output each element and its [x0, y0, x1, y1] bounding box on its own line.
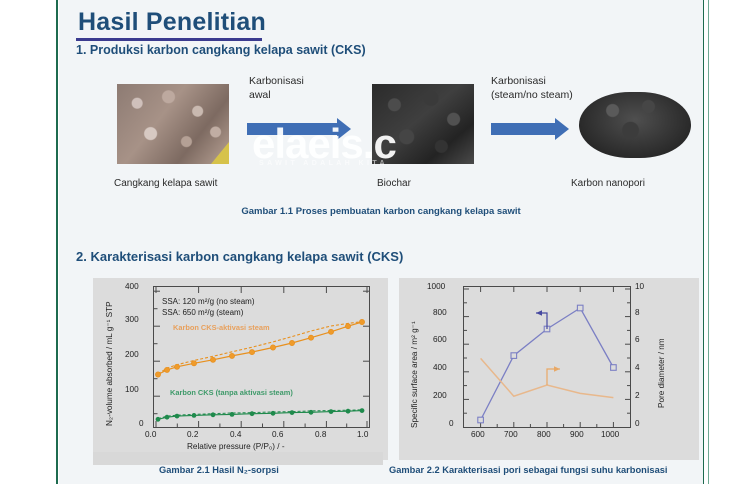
chart2-y-tick-1000: 1000: [427, 282, 445, 291]
right-border-line-secondary: [708, 0, 709, 484]
chart2-y-tick-0: 0: [449, 419, 454, 428]
chart1-x-tick-1: 0.2: [187, 430, 198, 439]
chart2-right-axis-arrow: [547, 369, 560, 385]
chart2-y2-tick-2: 2: [635, 391, 640, 400]
presentation-slide: Hasil Penelitian 1. Produksi karbon cang…: [59, 0, 703, 484]
chart2-y-tick-200: 200: [433, 391, 447, 400]
chart2-x-tick-900: 900: [570, 430, 584, 439]
arrow-label-line1: Karbonisasi: [491, 74, 573, 88]
chart2-y-tick-600: 600: [433, 335, 447, 344]
slide-frame: Hasil Penelitian 1. Produksi karbon cang…: [0, 0, 750, 484]
chart1-series-label-green: Karbon CKS (tanpa aktivasi steam): [170, 388, 293, 397]
arrow-shaft: [491, 123, 555, 135]
process-arrow-label-2: Karbonisasi (steam/no steam): [491, 74, 573, 102]
chart1-series-label-orange: Karbon CKS-aktivasi steam: [173, 323, 270, 332]
caption-strip: [93, 452, 383, 465]
arrow-label-line1: Karbonisasi: [249, 74, 304, 88]
chart1-annotations: SSA: 120 m²/g (no steam) SSA: 650 m²/g (…: [162, 296, 254, 318]
chart1-x-tick-3: 0.6: [272, 430, 283, 439]
section-heading-1: 1. Produksi karbon cangkang kelapa sawit…: [76, 43, 366, 57]
chart1-x-axis-label: Relative pressure (P/P₀) / -: [187, 442, 285, 451]
arrow-label-line2: awal: [249, 88, 304, 102]
chart2-y2-tick-10: 10: [635, 282, 644, 291]
photo-caption-2: Biochar: [377, 178, 411, 189]
chart2-y-axis-label: Specific surface area / m² g⁻¹: [409, 321, 419, 428]
chart2-y2-tick-6: 6: [635, 335, 640, 344]
chart1-annotation-no-steam: SSA: 120 m²/g (no steam): [162, 296, 254, 307]
chart1-y-tick-200: 200: [125, 350, 139, 359]
chart1-annotation-steam: SSA: 650 m²/g (steam): [162, 307, 254, 318]
photo-caption-3: Karbon nanopori: [571, 178, 645, 189]
arrow-label-line2: (steam/no steam): [491, 88, 573, 102]
chart2-x-tick-1000: 1000: [601, 430, 619, 439]
chart1-x-tick-4: 0.8: [315, 430, 326, 439]
section-heading-2: 2. Karakterisasi karbon cangkang kelapa …: [76, 249, 403, 264]
chart-n2-sorption: N₂-volume absorbed / mL g⁻¹ STP 400 300 …: [93, 278, 388, 460]
nanoporous-carbon-photo: [579, 92, 691, 158]
chart2-x-tick-800: 800: [537, 430, 551, 439]
chart2-y2-tick-4: 4: [635, 363, 640, 372]
oil-palm-shell-photo: [117, 84, 229, 164]
chart1-y-tick-100: 100: [125, 385, 139, 394]
chart2-svg: [464, 287, 630, 427]
chart2-right-arrow-head: [554, 366, 560, 372]
figure-caption-2-1: Gambar 2.1 Hasil N₂-sorpsi: [159, 465, 279, 475]
chart2-y-tick-800: 800: [433, 308, 447, 317]
chart2-y-tick-400: 400: [433, 363, 447, 372]
chart1-y-axis-label: N₂-volume absorbed / mL g⁻¹ STP: [104, 301, 114, 426]
chart-pore-characterisation: Specific surface area / m² g⁻¹ Pore diam…: [399, 278, 699, 460]
chart2-y2-tick-0: 0: [635, 419, 640, 428]
process-arrow-label-1: Karbonisasi awal: [249, 74, 304, 102]
title-underline: [76, 38, 262, 41]
chart1-y-tick-300: 300: [125, 315, 139, 324]
process-arrow-2: [491, 118, 569, 140]
left-border-line: [56, 0, 58, 484]
chart2-x-tick-700: 700: [504, 430, 518, 439]
chart2-x-tick-600: 600: [471, 430, 485, 439]
chart2-y2-tick-8: 8: [635, 308, 640, 317]
chart1-x-tick-2: 0.4: [230, 430, 241, 439]
photo-caption-1: Cangkang kelapa sawit: [114, 178, 217, 189]
watermark-tagline: SAWIT ADALAH KITA: [259, 160, 388, 167]
chart2-plot-area: [463, 286, 631, 428]
page-title: Hasil Penelitian: [78, 8, 266, 37]
figure-caption-1-1: Gambar 1.1 Proses pembuatan karbon cangk…: [59, 206, 703, 217]
chart1-y-tick-0: 0: [139, 419, 144, 428]
arrow-head: [555, 118, 569, 140]
chart2-y2-axis-label: Pore diameter / nm: [657, 338, 666, 408]
chart1-x-tick-0: 0.0: [145, 430, 156, 439]
chart1-plot-area: SSA: 120 m²/g (no steam) SSA: 650 m²/g (…: [153, 286, 370, 428]
chart1-x-tick-5: 1.0: [357, 430, 368, 439]
chart2-left-arrow-head: [536, 310, 542, 316]
figure-caption-2-2: Gambar 2.2 Karakterisasi pori sebagai fu…: [389, 465, 668, 475]
chart1-y-tick-400: 400: [125, 282, 139, 291]
